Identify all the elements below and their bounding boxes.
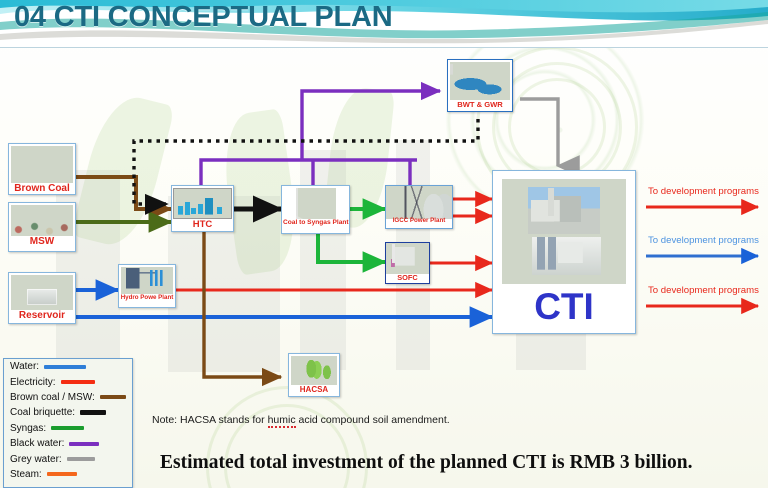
- industrial-photo: [502, 179, 626, 284]
- powerplant-photo: [386, 186, 452, 219]
- node-igcc-label: IGCC Power Plant: [386, 217, 452, 226]
- dam-photo: [11, 275, 73, 310]
- node-coal-to-syngas-plant[interactable]: Coal to Syngas Plant: [281, 185, 350, 234]
- legend-label-coal-briquette: Coal briquette:: [10, 407, 75, 418]
- legend-swatch-water: [44, 365, 86, 369]
- htc-chart-icon: [173, 188, 232, 219]
- legend-swatch-steam: [47, 472, 77, 476]
- background-building-3: [300, 150, 346, 370]
- node-htc[interactable]: HTC: [171, 185, 234, 232]
- node-hacsa[interactable]: HACSA: [288, 353, 340, 397]
- node-brown-coal-label: Brown Coal: [9, 183, 75, 196]
- legend-item-steam: Steam:: [4, 467, 132, 482]
- node-reservoir[interactable]: Reservoir: [8, 272, 76, 324]
- background-ring-1: [508, 78, 606, 176]
- legend-swatch-grey-water: [67, 457, 95, 461]
- coal-photo: [11, 146, 73, 183]
- node-cti[interactable]: CTI: [492, 170, 636, 334]
- legend-swatch-syngas: [51, 426, 84, 430]
- node-msw[interactable]: MSW: [8, 202, 76, 252]
- legend-label-brown-coal-msw: Brown coal / MSW:: [10, 392, 95, 403]
- header-divider: [0, 47, 768, 48]
- legend-label-steam: Steam:: [10, 469, 42, 480]
- legend-label-black-water: Black water:: [10, 438, 64, 449]
- slide-canvas: 04 CTI CONCEPTUAL PLAN: [0, 0, 768, 488]
- background-leaf-1: [71, 90, 175, 252]
- legend-label-syngas: Syngas:: [10, 423, 46, 434]
- node-sofc[interactable]: SOFC: [385, 242, 430, 284]
- legend-item-water: Water:: [4, 359, 132, 374]
- node-bwt-gwr[interactable]: BWT & GWR: [447, 59, 513, 112]
- note-text: Note: HACSA stands for humic acid compou…: [152, 414, 450, 426]
- seedling-photo: [291, 356, 337, 385]
- legend-item-coal-briquette: Coal briquette:: [4, 405, 132, 420]
- node-hacsa-label: HACSA: [289, 385, 339, 395]
- node-brown-coal[interactable]: Brown Coal: [8, 143, 76, 195]
- legend-swatch-black-water: [69, 442, 99, 446]
- node-htc-label: HTC: [172, 219, 233, 231]
- legend-item-grey-water: Grey water:: [4, 451, 132, 466]
- node-msw-label: MSW: [9, 236, 75, 249]
- node-coal-syngas-label: Coal to Syngas Plant: [282, 219, 349, 228]
- legend-item-syngas: Syngas:: [4, 421, 132, 436]
- cti-photo-upper: [528, 187, 600, 233]
- node-reservoir-label: Reservoir: [9, 310, 75, 323]
- legend-label-grey-water: Grey water:: [10, 454, 62, 465]
- legend-item-black-water: Black water:: [4, 436, 132, 451]
- legend-item-electricity: Electricity:: [4, 374, 132, 389]
- legend-swatch-brown-coal-msw: [100, 395, 126, 399]
- legend-swatch-electricity: [61, 380, 95, 384]
- node-igcc-power-plant[interactable]: IGCC Power Plant: [385, 185, 453, 229]
- legend-item-brown-coal-msw: Brown coal / MSW:: [4, 390, 132, 405]
- output-label-1: To development programs: [648, 186, 759, 197]
- gasifier-photo: [296, 188, 336, 219]
- node-hydro-label: Hydro Powe Plant: [119, 294, 175, 303]
- output-label-3: To development programs: [648, 285, 759, 296]
- node-cti-label: CTI: [493, 287, 635, 327]
- investment-headline: Estimated total investment of the planne…: [160, 452, 693, 474]
- fuelcell-photo: [386, 243, 429, 274]
- legend-label-electricity: Electricity:: [10, 377, 56, 388]
- cti-photo-lower: [532, 237, 601, 275]
- note-suffix: acid compound soil amendment.: [296, 414, 450, 426]
- header-banner: 04 CTI CONCEPTUAL PLAN: [0, 0, 768, 48]
- legend-panel: Water: Electricity: Brown coal / MSW: Co…: [3, 358, 133, 488]
- node-hydro-power-plant[interactable]: Hydro Powe Plant: [118, 264, 176, 308]
- note-misspelled-word: humic: [268, 414, 296, 428]
- landfill-photo: [11, 205, 73, 236]
- output-label-2: To development programs: [648, 235, 759, 246]
- wetland-photo: [450, 62, 510, 100]
- page-title: 04 CTI CONCEPTUAL PLAN: [14, 1, 393, 34]
- legend-swatch-coal-briquette: [80, 410, 106, 415]
- node-sofc-label: SOFC: [386, 273, 429, 283]
- hydro-icon: [121, 267, 173, 294]
- note-prefix: Note: HACSA stands for: [152, 414, 268, 426]
- node-bwt-gwr-label: BWT & GWR: [448, 100, 512, 110]
- background-building-1: [56, 170, 120, 370]
- legend-label-water: Water:: [10, 361, 39, 372]
